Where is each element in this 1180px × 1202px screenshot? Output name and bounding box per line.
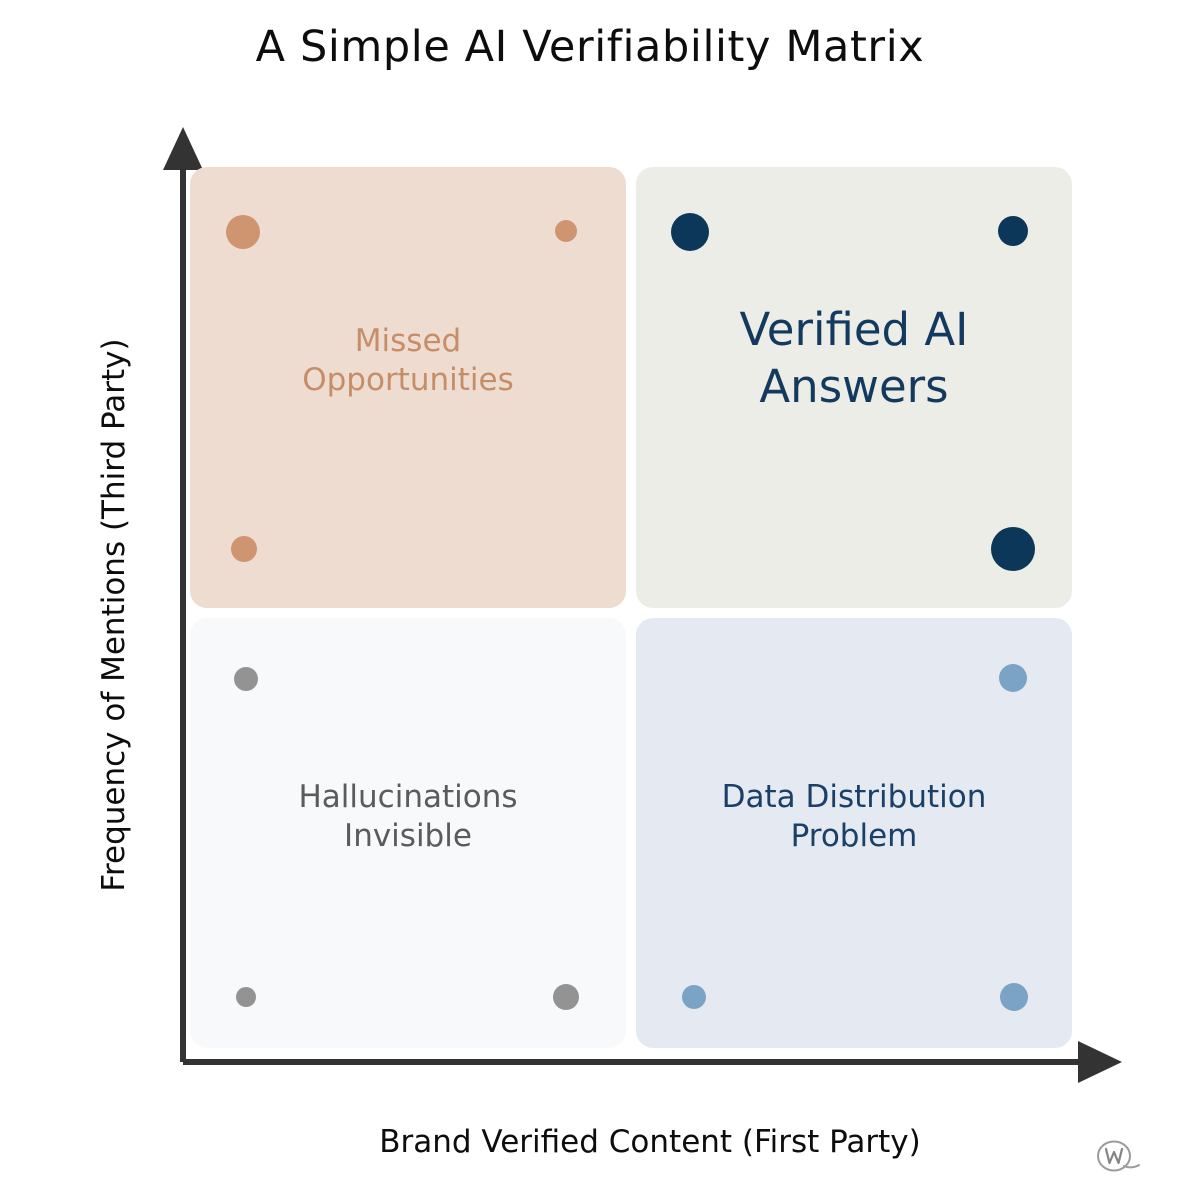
scatter-dot (671, 213, 709, 251)
verifiability-matrix-figure: A Simple AI Verifiability Matrix Frequen… (0, 0, 1180, 1202)
scatter-dot (553, 984, 579, 1010)
scatter-dot (1000, 983, 1028, 1011)
scatter-dot (226, 215, 260, 249)
scatter-dots-layer (0, 0, 1180, 1202)
scatter-dot (234, 667, 258, 691)
scatter-dot (555, 220, 577, 242)
scatter-dot (998, 216, 1028, 246)
scatter-dot (682, 985, 706, 1009)
circled-w-signature-icon (1094, 1136, 1142, 1178)
scatter-dot (999, 664, 1027, 692)
scatter-dot (991, 527, 1035, 571)
scatter-dot (236, 987, 256, 1007)
scatter-dot (231, 536, 257, 562)
